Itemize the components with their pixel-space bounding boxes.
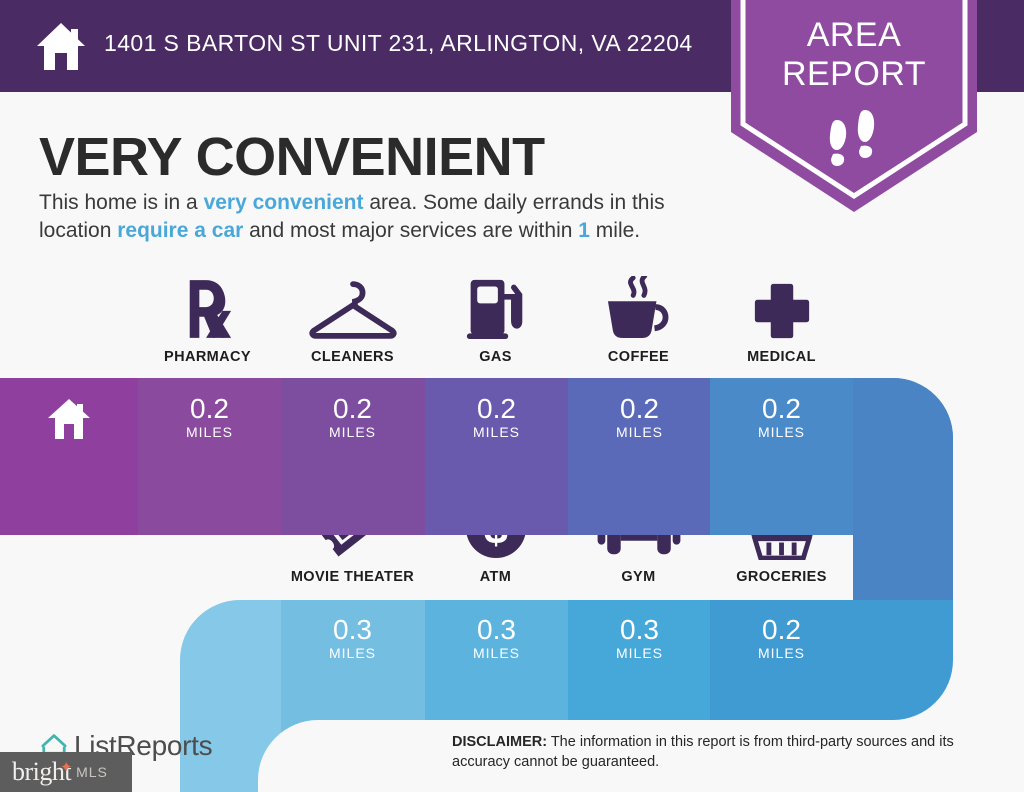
home-icon <box>34 20 88 72</box>
property-address: 1401 S BARTON ST UNIT 231, ARLINGTON, VA… <box>104 30 693 57</box>
bright-mls-watermark: bright✦ MLS <box>0 752 132 792</box>
amenity-medical: MEDICAL <box>710 272 853 365</box>
hanger-icon <box>281 272 424 340</box>
rx-icon <box>136 272 279 340</box>
amenity-gas: GAS <box>424 272 567 365</box>
intro-paragraph: This home is in a very convenient area. … <box>39 189 729 245</box>
intro-text-1: This home is in a <box>39 191 204 214</box>
bright-wordmark: bright✦ <box>12 757 71 787</box>
medical-cross-icon <box>710 272 853 340</box>
amenity-label: COFFEE <box>567 349 710 365</box>
amenity-label: GAS <box>424 349 567 365</box>
disclaimer-label: DISCLAIMER: <box>452 734 547 750</box>
intro-highlight-1: very convenient <box>204 191 364 214</box>
distance-ribbon <box>0 370 1024 792</box>
gas-pump-icon <box>424 272 567 340</box>
amenity-cleaners: CLEANERS <box>281 272 424 365</box>
mls-label: MLS <box>76 764 108 780</box>
area-report-badge: AREA REPORT <box>731 0 977 212</box>
amenity-coffee: COFFEE <box>567 272 710 365</box>
coffee-cup-icon <box>567 272 710 340</box>
page-title: VERY CONVENIENT <box>39 126 545 188</box>
intro-text-4: mile. <box>590 219 640 242</box>
disclaimer: DISCLAIMER: The information in this repo… <box>452 732 992 772</box>
amenity-label: MEDICAL <box>710 349 853 365</box>
home-icon <box>47 397 91 441</box>
amenity-label: PHARMACY <box>136 349 279 365</box>
amenity-label: CLEANERS <box>281 349 424 365</box>
intro-text-3: and most major services are within <box>243 219 578 242</box>
star-icon: ✦ <box>60 758 72 777</box>
intro-highlight-3: 1 <box>578 219 590 242</box>
intro-highlight-2: require a car <box>117 219 243 242</box>
amenity-pharmacy: PHARMACY <box>136 272 279 365</box>
